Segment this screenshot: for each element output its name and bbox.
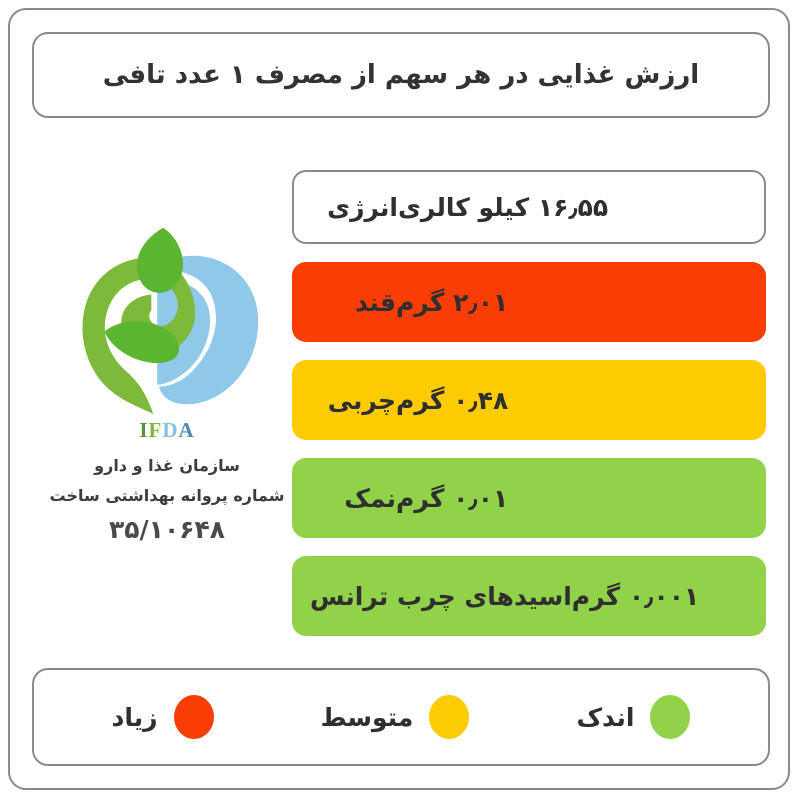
nutrient-value: ۰٫۰۰۱ گرم xyxy=(572,582,700,611)
ifda-wordmark: IFDA xyxy=(139,418,194,443)
page-title: ارزش غذایی در هر سهم از مصرف ۱ عدد تافی xyxy=(103,60,699,90)
nutrient-name: چربی xyxy=(310,386,396,415)
legend-item-low: اندک xyxy=(576,695,690,739)
legend-box: اندک متوسط زیاد xyxy=(32,668,770,766)
legend-item-high: زیاد xyxy=(112,695,214,739)
legend-dot-red-icon xyxy=(174,695,214,739)
ifda-letter-f: F xyxy=(149,418,163,442)
legend-label: اندک xyxy=(576,703,634,732)
nutrient-value: ۲٫۰۱ گرم xyxy=(396,288,508,317)
nutrient-value: ۰٫۴۸ گرم xyxy=(396,386,508,415)
nutrient-name: انرژی xyxy=(312,193,398,222)
nutrient-row-fat: چربی ۰٫۴۸ گرم xyxy=(292,360,766,440)
nutrient-name: اسیدهای چرب ترانس xyxy=(310,582,572,611)
header-box: ارزش غذایی در هر سهم از مصرف ۱ عدد تافی xyxy=(32,32,770,118)
nutrient-row-trans-fat: اسیدهای چرب ترانس ۰٫۰۰۱ گرم xyxy=(292,556,766,636)
nutrient-row-sugar: قند ۲٫۰۱ گرم xyxy=(292,262,766,342)
nutrient-value: ۱۶٫۵۵ کیلو کالری xyxy=(398,193,608,222)
ifda-letter-a: A xyxy=(179,418,195,442)
nutrient-rows: انرژی ۱۶٫۵۵ کیلو کالری قند ۲٫۰۱ گرم چربی… xyxy=(292,170,766,654)
logo-column: IFDA سازمان غذا و دارو شماره پروانه بهدا… xyxy=(36,160,298,660)
nutrient-name: نمک xyxy=(310,484,396,513)
legend-label: متوسط xyxy=(321,703,414,732)
license-caption: شماره پروانه بهداشتی ساخت xyxy=(50,486,285,505)
ifda-letter-d: D xyxy=(162,418,178,442)
legend-dot-yellow-icon xyxy=(429,695,469,739)
legend-dot-green-icon xyxy=(650,695,690,739)
nutrient-row-energy: انرژی ۱۶٫۵۵ کیلو کالری xyxy=(292,170,766,244)
license-number: ۳۵/۱۰۶۴۸ xyxy=(109,515,225,544)
ifda-letter-i: I xyxy=(139,418,148,442)
nutrient-row-salt: نمک ۰٫۰۱ گرم xyxy=(292,458,766,538)
nutrition-label-card: ارزش غذایی در هر سهم از مصرف ۱ عدد تافی … xyxy=(8,8,790,790)
organization-name: سازمان غذا و دارو xyxy=(94,456,240,475)
ifda-apple-logo-icon xyxy=(69,222,265,418)
legend-item-medium: متوسط xyxy=(321,695,470,739)
legend-label: زیاد xyxy=(112,703,158,732)
nutrient-value: ۰٫۰۱ گرم xyxy=(396,484,508,513)
nutrient-name: قند xyxy=(310,288,396,317)
